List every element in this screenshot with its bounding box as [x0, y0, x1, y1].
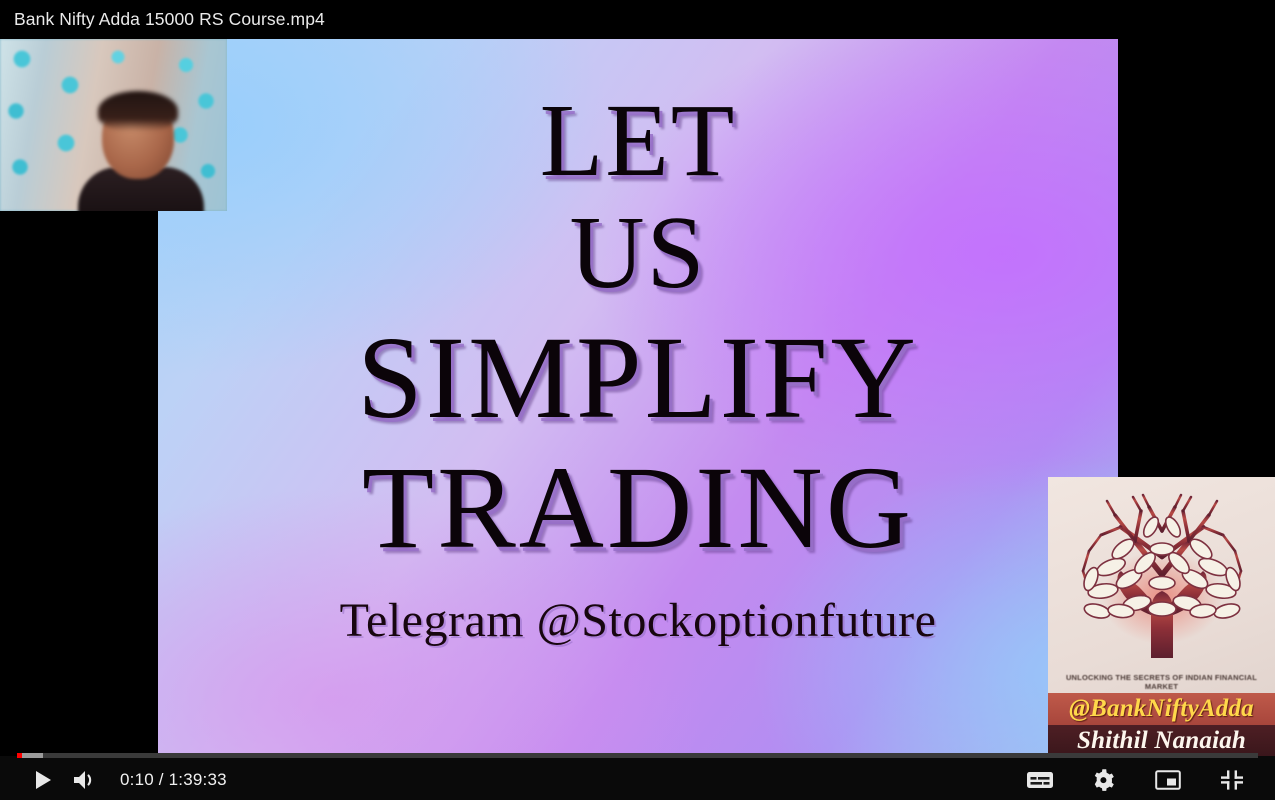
fullscreen-button[interactable] — [1211, 759, 1253, 800]
headline-line-1: LET — [540, 89, 737, 193]
progress-bar-played — [17, 753, 22, 758]
progress-bar-track[interactable] — [17, 753, 1258, 758]
miniplayer-button[interactable] — [1147, 759, 1189, 800]
headline-line-2: US — [570, 201, 707, 305]
subtitles-icon — [1026, 769, 1054, 791]
controls-row: 0:10 / 1:39:33 — [0, 759, 1275, 800]
miniplayer-icon — [1155, 769, 1181, 791]
volume-button[interactable] — [64, 759, 106, 800]
webcam-presenter-figure — [82, 95, 200, 211]
play-button[interactable] — [22, 759, 64, 800]
headline-line-4: TRADING — [362, 449, 914, 567]
video-player: Bank Nifty Adda 15000 RS Course.mp4 LET … — [0, 0, 1275, 800]
volume-icon — [72, 768, 98, 792]
logo-handle-banner: @BankNiftyAdda — [1048, 693, 1275, 725]
tree-logo-icon — [1067, 483, 1257, 673]
time-display: 0:10 / 1:39:33 — [120, 770, 227, 790]
title-bar: Bank Nifty Adda 15000 RS Course.mp4 — [0, 0, 1275, 39]
slide-headline-block: LET US SIMPLIFY TRADING Telegram @Stocko… — [158, 39, 1118, 756]
logo-name-banner: Shithil Nanaiah — [1048, 725, 1275, 756]
logo-tagline-text: UNLOCKING THE SECRETS OF INDIAN FINANCIA… — [1048, 673, 1275, 692]
play-icon — [32, 769, 54, 791]
gear-icon — [1092, 768, 1116, 792]
headline-line-3: SIMPLIFY — [357, 319, 919, 437]
controls-right-group — [1019, 759, 1275, 800]
logo-handle-text: @BankNiftyAdda — [1069, 695, 1254, 723]
telegram-handle-text: Telegram @Stockoptionfuture — [340, 593, 937, 648]
controls-left-group: 0:10 / 1:39:33 — [0, 759, 227, 800]
exit-fullscreen-icon — [1220, 768, 1244, 792]
captions-button[interactable] — [1019, 759, 1061, 800]
presenter-hair — [98, 91, 178, 131]
video-stage[interactable]: LET US SIMPLIFY TRADING Telegram @Stocko… — [0, 39, 1275, 756]
player-controls-bar: 0:10 / 1:39:33 — [0, 756, 1275, 800]
settings-button[interactable] — [1083, 759, 1125, 800]
channel-logo-watermark: UNLOCKING THE SECRETS OF INDIAN FINANCIA… — [1048, 477, 1275, 756]
video-title: Bank Nifty Adda 15000 RS Course.mp4 — [0, 9, 325, 30]
logo-presenter-name-text: Shithil Nanaiah — [1077, 727, 1246, 755]
slide-content: LET US SIMPLIFY TRADING Telegram @Stocko… — [158, 39, 1118, 756]
presenter-webcam-overlay — [0, 39, 227, 211]
